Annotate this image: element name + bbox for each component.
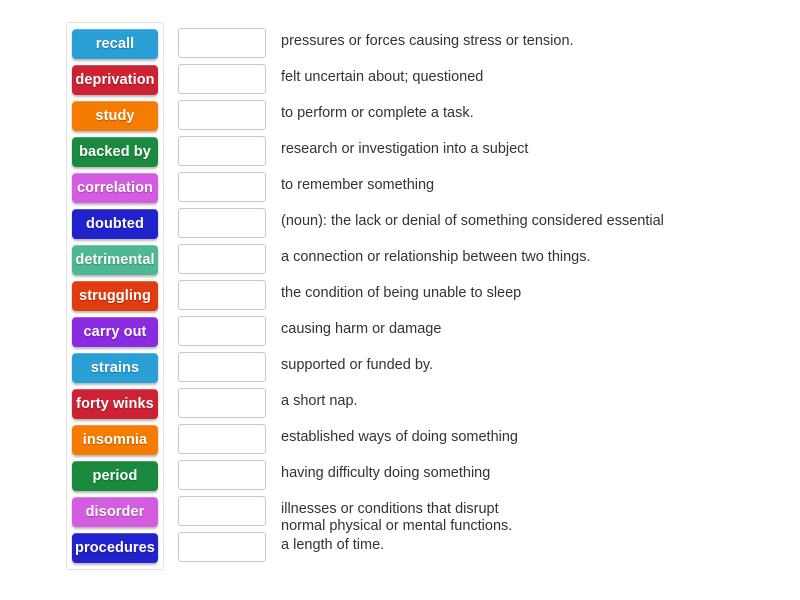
answer-dropbox[interactable] (178, 532, 266, 562)
definition-text: to remember something (281, 172, 434, 194)
answer-dropbox[interactable] (178, 244, 266, 274)
word-tile[interactable]: disorder (72, 497, 158, 527)
word-tile[interactable]: period (72, 461, 158, 491)
answer-row: research or investigation into a subject (178, 136, 788, 172)
answer-row: illnesses or conditions that disrupt nor… (178, 496, 788, 532)
answer-row: pressures or forces causing stress or te… (178, 28, 788, 64)
word-tile[interactable]: insomnia (72, 425, 158, 455)
definition-text: a connection or relationship between two… (281, 244, 591, 266)
answer-dropbox[interactable] (178, 496, 266, 526)
match-up-activity: recalldeprivationstudybacked bycorrelati… (0, 0, 800, 600)
answer-row: (noun): the lack or denial of something … (178, 208, 788, 244)
word-tile[interactable]: strains (72, 353, 158, 383)
definition-text: pressures or forces causing stress or te… (281, 28, 574, 50)
answer-row: causing harm or damage (178, 316, 788, 352)
answer-dropbox[interactable] (178, 172, 266, 202)
answer-row: to remember something (178, 172, 788, 208)
answer-dropbox[interactable] (178, 352, 266, 382)
definition-text: (noun): the lack or denial of something … (281, 208, 664, 230)
word-tile[interactable]: procedures (72, 533, 158, 563)
answer-dropbox[interactable] (178, 316, 266, 346)
answer-row: a connection or relationship between two… (178, 244, 788, 280)
word-tile[interactable]: doubted (72, 209, 158, 239)
answer-row: the condition of being unable to sleep (178, 280, 788, 316)
word-tile[interactable]: recall (72, 29, 158, 59)
answer-row: to perform or complete a task. (178, 100, 788, 136)
answer-dropbox[interactable] (178, 460, 266, 490)
answer-dropbox[interactable] (178, 388, 266, 418)
word-tile[interactable]: study (72, 101, 158, 131)
answer-dropbox[interactable] (178, 100, 266, 130)
answer-row: supported or funded by. (178, 352, 788, 388)
answer-dropbox[interactable] (178, 64, 266, 94)
definition-text: research or investigation into a subject (281, 136, 528, 158)
word-tile-tray: recalldeprivationstudybacked bycorrelati… (66, 22, 164, 570)
answer-row: felt uncertain about; questioned (178, 64, 788, 100)
definition-text: having difficulty doing something (281, 460, 490, 482)
definition-text: illnesses or conditions that disrupt nor… (281, 496, 512, 535)
answer-row: a short nap. (178, 388, 788, 424)
definition-text: to perform or complete a task. (281, 100, 474, 122)
answer-dropbox[interactable] (178, 208, 266, 238)
answer-row: established ways of doing something (178, 424, 788, 460)
definition-text: felt uncertain about; questioned (281, 64, 483, 86)
answer-dropbox[interactable] (178, 28, 266, 58)
word-tile[interactable]: carry out (72, 317, 158, 347)
answer-dropbox[interactable] (178, 280, 266, 310)
word-tile[interactable]: correlation (72, 173, 158, 203)
answer-row: having difficulty doing something (178, 460, 788, 496)
definition-text: supported or funded by. (281, 352, 433, 374)
definition-text: the condition of being unable to sleep (281, 280, 521, 302)
definition-text: a length of time. (281, 532, 384, 554)
answer-row: a length of time. (178, 532, 788, 568)
answer-rows-list: pressures or forces causing stress or te… (178, 28, 788, 568)
word-tile[interactable]: struggling (72, 281, 158, 311)
definition-text: a short nap. (281, 388, 358, 410)
word-tile[interactable]: forty winks (72, 389, 158, 419)
answer-dropbox[interactable] (178, 424, 266, 454)
word-tile[interactable]: detrimental (72, 245, 158, 275)
word-tile[interactable]: deprivation (72, 65, 158, 95)
definition-text: causing harm or damage (281, 316, 441, 338)
definition-text: established ways of doing something (281, 424, 518, 446)
answer-dropbox[interactable] (178, 136, 266, 166)
word-tile[interactable]: backed by (72, 137, 158, 167)
